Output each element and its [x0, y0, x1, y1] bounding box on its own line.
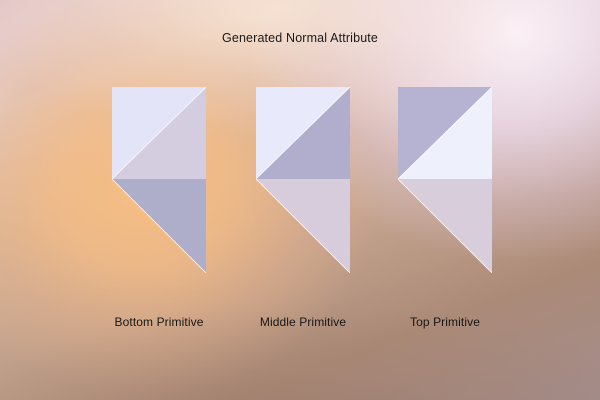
primitive-bottom-primitive[interactable]: [112, 87, 206, 273]
caption-middle-primitive: Middle Primitive: [223, 315, 383, 329]
caption-top-primitive: Top Primitive: [365, 315, 525, 329]
render-viewport: Generated Normal Attribute: [0, 0, 600, 400]
primitive-row: [0, 87, 600, 277]
caption-bottom-primitive: Bottom Primitive: [79, 315, 239, 329]
page-title: Generated Normal Attribute: [0, 31, 600, 45]
primitive-top-primitive[interactable]: [398, 87, 492, 273]
primitive-middle-primitive[interactable]: [256, 87, 350, 273]
caption-row: Bottom Primitive Middle Primitive Top Pr…: [0, 315, 600, 335]
